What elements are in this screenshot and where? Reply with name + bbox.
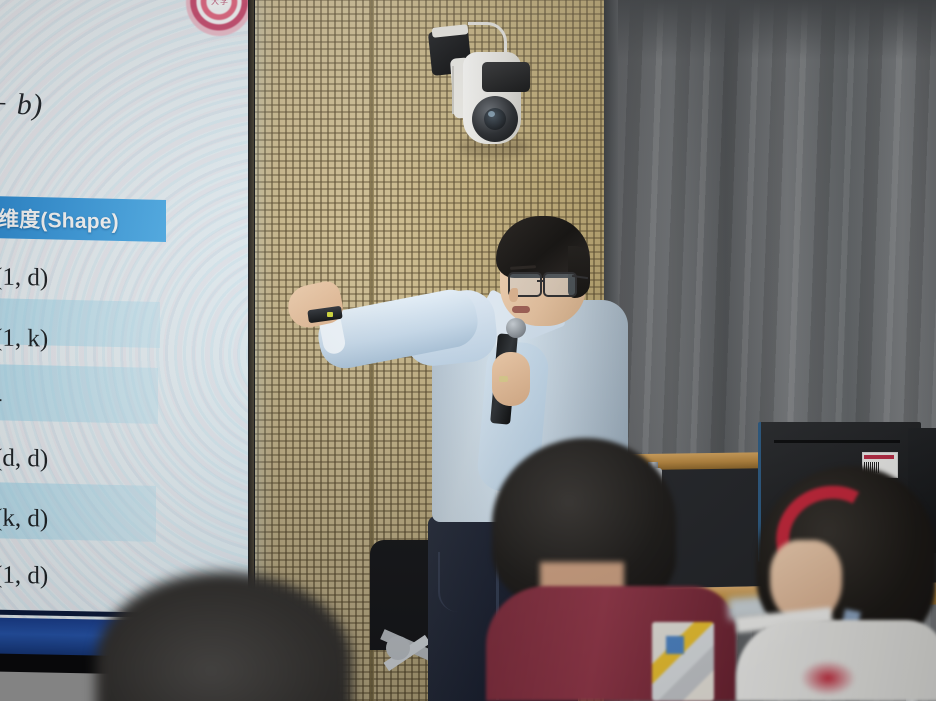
slide-formula: + b)	[0, 87, 43, 122]
presenter-hand-holding-mic	[492, 352, 530, 406]
camera-lens-icon	[484, 108, 506, 130]
slide-table-header-label: 维度(Shape)	[0, 203, 178, 237]
clicker-button-icon[interactable]	[327, 312, 333, 317]
table-row: (d, d)	[0, 444, 48, 473]
camera-lens-glint	[488, 111, 495, 117]
presenter-mouth	[512, 306, 530, 313]
curtain-top-shadow	[610, 0, 936, 60]
table-row: -	[0, 385, 2, 413]
chair-base-hub	[386, 636, 410, 660]
eyeglasses-bridge	[537, 280, 545, 282]
microphone-head-icon	[506, 318, 526, 338]
table-row: (1, k)	[0, 324, 48, 353]
lecture-hall-photo: 大学 + b) 维度(Shape) (1, d) (1, k) - (d, d)…	[0, 0, 936, 701]
table-row: (k, d)	[0, 504, 48, 533]
table-row: (1, d)	[0, 263, 48, 292]
student-shirt-graphic	[652, 622, 714, 701]
finger-ring	[499, 376, 508, 382]
presenter-nose	[509, 288, 518, 302]
monitor-vent	[774, 440, 900, 443]
table-row: (1, d)	[0, 561, 48, 590]
trouser-pocket	[438, 552, 474, 612]
student-shirt-logo	[800, 660, 856, 696]
student-shirt-graphic-accent	[666, 636, 684, 654]
table-row-band	[0, 364, 158, 424]
camera-sensor-panel	[482, 62, 530, 92]
university-logo-label: 大学	[196, 0, 244, 7]
asset-tag-header	[864, 455, 894, 459]
